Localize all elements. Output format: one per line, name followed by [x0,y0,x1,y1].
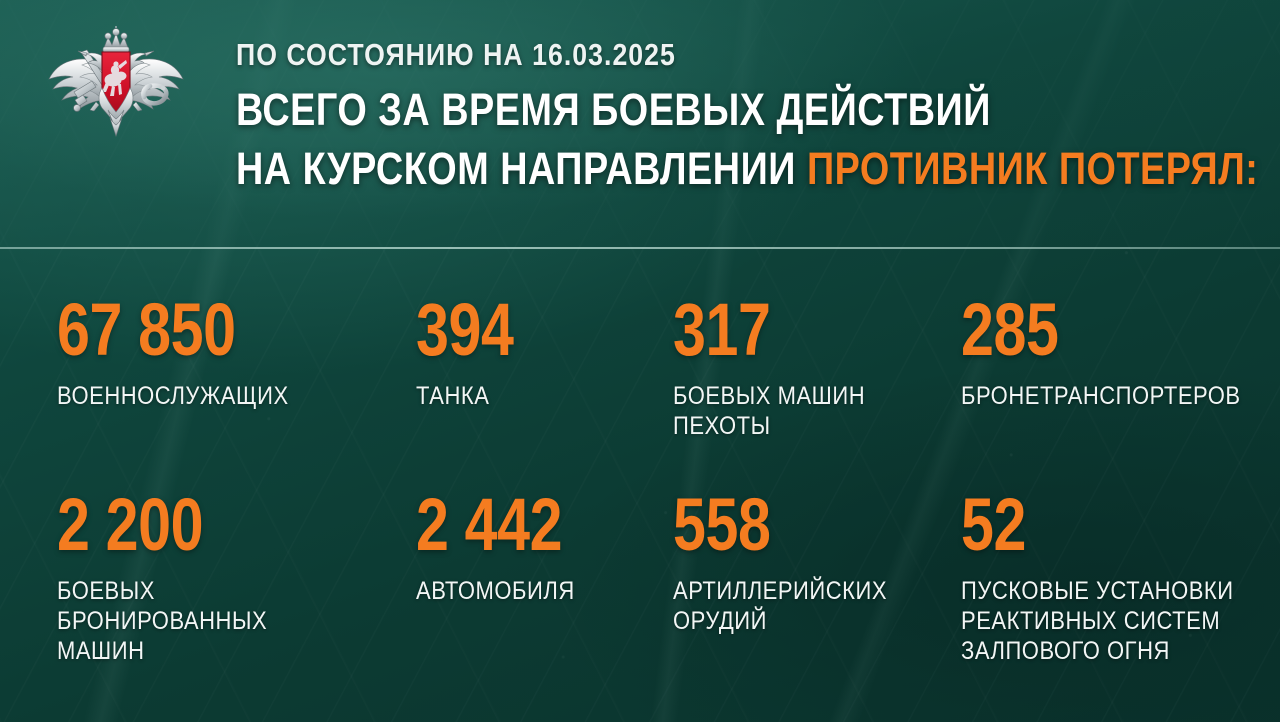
stats-row: 2 200 БОЕВЫХ БРОНИРОВАННЫХ МАШИН 2 442 А… [0,486,1280,722]
stat-value: 52 [961,486,1201,564]
stat-value: 2 442 [416,486,616,564]
stat-label: ТАНКА [416,381,636,411]
headline-line-2: НА КУРСКОМ НАПРАВЛЕНИИ ПРОТИВНИК ПОТЕРЯЛ… [236,142,1093,196]
stat-cell-vehicles: 2 442 АВТОМОБИЛЯ [416,486,666,606]
stat-label-line: АВТОМОБИЛЯ [416,576,636,606]
stat-cell-artillery: 558 АРТИЛЛЕРИЙСКИХ ОРУДИЙ [673,486,949,636]
headline-line-1: ВСЕГО ЗА ВРЕМЯ БОЕВЫХ ДЕЙСТВИЙ [236,83,1093,137]
stat-label: БРОНЕТРАНСПОРТЕРОВ [961,381,1225,411]
headline-line-2-plain: НА КУРСКОМ НАПРАВЛЕНИИ [236,143,796,194]
stat-label: АРТИЛЛЕРИЙСКИХ ОРУДИЙ [673,576,916,636]
infographic-poster: ПО СОСТОЯНИЮ НА 16.03.2025 ВСЕГО ЗА ВРЕМ… [0,0,1280,722]
stat-cell-apc: 285 БРОНЕТРАНСПОРТЕРОВ [961,291,1261,411]
stat-cell-mlrs: 52 ПУСКОВЫЕ УСТАНОВКИ РЕАКТИВНЫХ СИСТЕМ … [961,486,1261,666]
stat-label-line: МАШИН [57,636,361,666]
stat-label: БОЕВЫХ МАШИН ПЕХОТЫ [673,381,916,441]
stat-label-line: ПУСКОВЫЕ УСТАНОВКИ [961,576,1225,606]
stat-label: БОЕВЫХ БРОНИРОВАННЫХ МАШИН [57,576,361,666]
stat-label: АВТОМОБИЛЯ [416,576,636,606]
stat-value: 558 [673,486,894,564]
stat-cell-ifv: 317 БОЕВЫХ МАШИН ПЕХОТЫ [673,291,949,441]
stat-label-line: БРОНИРОВАННЫХ [57,606,361,636]
stat-label-line: ВОЕННОСЛУЖАЩИХ [57,381,361,411]
stat-label: ВОЕННОСЛУЖАЩИХ [57,381,361,411]
statistics-grid: 67 850 ВОЕННОСЛУЖАЩИХ 394 ТАНКА 317 БОЕВ… [0,248,1280,722]
stats-row: 67 850 ВОЕННОСЛУЖАЩИХ 394 ТАНКА 317 БОЕВ… [0,291,1280,491]
stat-label-line: БОЕВЫХ МАШИН [673,381,916,411]
stat-label: ПУСКОВЫЕ УСТАНОВКИ РЕАКТИВНЫХ СИСТЕМ ЗАЛ… [961,576,1225,666]
header-text-block: ПО СОСТОЯНИЮ НА 16.03.2025 ВСЕГО ЗА ВРЕМ… [236,36,1256,196]
header-banner: ПО СОСТОЯНИЮ НА 16.03.2025 ВСЕГО ЗА ВРЕМ… [0,0,1280,248]
stat-label-line: РЕАКТИВНЫХ СИСТЕМ [961,606,1225,636]
stat-cell-armoured-combat-vehicles: 2 200 БОЕВЫХ БРОНИРОВАННЫХ МАШИН [57,486,402,666]
status-date-line: ПО СОСТОЯНИЮ НА 16.03.2025 [236,36,1113,74]
stat-label-line: БРОНЕТРАНСПОРТЕРОВ [961,381,1225,411]
stat-label-line: ЗАЛПОВОГО ОГНЯ [961,636,1225,666]
stat-value: 67 850 [57,291,333,369]
stat-value: 2 200 [57,486,333,564]
stat-value: 317 [673,291,894,369]
stat-label-line: ТАНКА [416,381,636,411]
stat-value: 285 [961,291,1201,369]
stat-label-line: АРТИЛЛЕРИЙСКИХ [673,576,916,606]
stat-label-line: ПЕХОТЫ [673,411,916,441]
ministry-of-defence-emblem-icon [46,26,186,148]
stat-value: 394 [416,291,616,369]
stat-cell-tanks: 394 ТАНКА [416,291,666,411]
headline-line-2-accent: ПРОТИВНИК ПОТЕРЯЛ: [807,143,1258,194]
stat-cell-personnel: 67 850 ВОЕННОСЛУЖАЩИХ [57,291,402,411]
stat-label-line: ОРУДИЙ [673,606,916,636]
stat-label-line: БОЕВЫХ [57,576,361,606]
